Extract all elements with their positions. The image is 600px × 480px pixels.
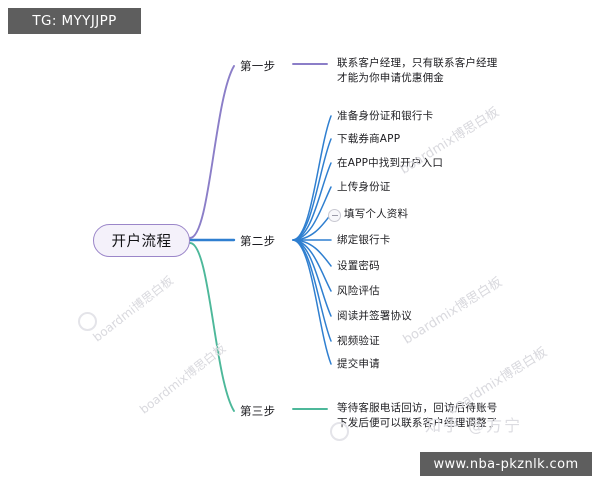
- leaf-node[interactable]: 提交申请: [337, 357, 380, 372]
- mindmap-canvas: 开户流程 第一步 第二步 第三步 联系客户经理，只有联系客户经理 才能为你申请优…: [0, 0, 600, 480]
- branch-label-step-1[interactable]: 第一步: [240, 58, 275, 74]
- collapse-toggle-icon[interactable]: [328, 209, 341, 222]
- leaf-node[interactable]: 联系客户经理，只有联系客户经理 才能为你申请优惠佣金: [337, 56, 513, 86]
- fan-line-7: [293, 240, 331, 266]
- fan-line-1: [293, 116, 331, 240]
- fan-line-2: [293, 139, 331, 240]
- leaf-node[interactable]: 准备身份证和银行卡: [337, 109, 433, 124]
- fan-line-4: [293, 187, 331, 240]
- root-node[interactable]: 开户流程: [93, 224, 190, 257]
- fan-line-11: [293, 240, 331, 364]
- trunk-line-step-3: [190, 243, 234, 411]
- leaf-node[interactable]: 上传身份证: [337, 180, 391, 195]
- leaf-node[interactable]: 风险评估: [337, 284, 380, 299]
- leaf-node[interactable]: 视频验证: [337, 334, 380, 349]
- leaf-node[interactable]: 填写个人资料: [344, 207, 408, 222]
- root-node-label: 开户流程: [112, 230, 172, 251]
- watermark-text: boardmix博思白板: [136, 340, 229, 418]
- leaf-node[interactable]: 设置密码: [337, 259, 380, 274]
- watermark-text: boardmix博思白板: [399, 271, 505, 347]
- fan-line-8: [293, 240, 331, 291]
- leaf-node[interactable]: 阅读并签署协议: [337, 309, 412, 324]
- trunk-line-step-1: [190, 66, 234, 238]
- url-badge: www.nba-pkznlk.com: [420, 452, 592, 476]
- branch-label-step-2[interactable]: 第二步: [240, 233, 275, 249]
- watermark-ring-icon: [78, 312, 97, 331]
- leaf-node[interactable]: 绑定银行卡: [337, 233, 391, 248]
- tg-badge: TG: MYYJJPP: [8, 8, 141, 34]
- fan-line-9: [293, 240, 331, 316]
- fan-line-10: [293, 240, 331, 341]
- leaf-node[interactable]: 在APP中找到开户入口: [337, 156, 443, 171]
- watermark-text: boardmi博思白板: [89, 272, 176, 346]
- fan-line-5: [293, 214, 331, 240]
- leaf-node[interactable]: 下载券商APP: [337, 132, 400, 147]
- branch-label-step-3[interactable]: 第三步: [240, 403, 275, 419]
- leaf-node[interactable]: 等待客服电话回访，回访后待账号 下发后便可以联系客户经理调整了: [337, 401, 523, 431]
- fan-line-3: [293, 163, 331, 240]
